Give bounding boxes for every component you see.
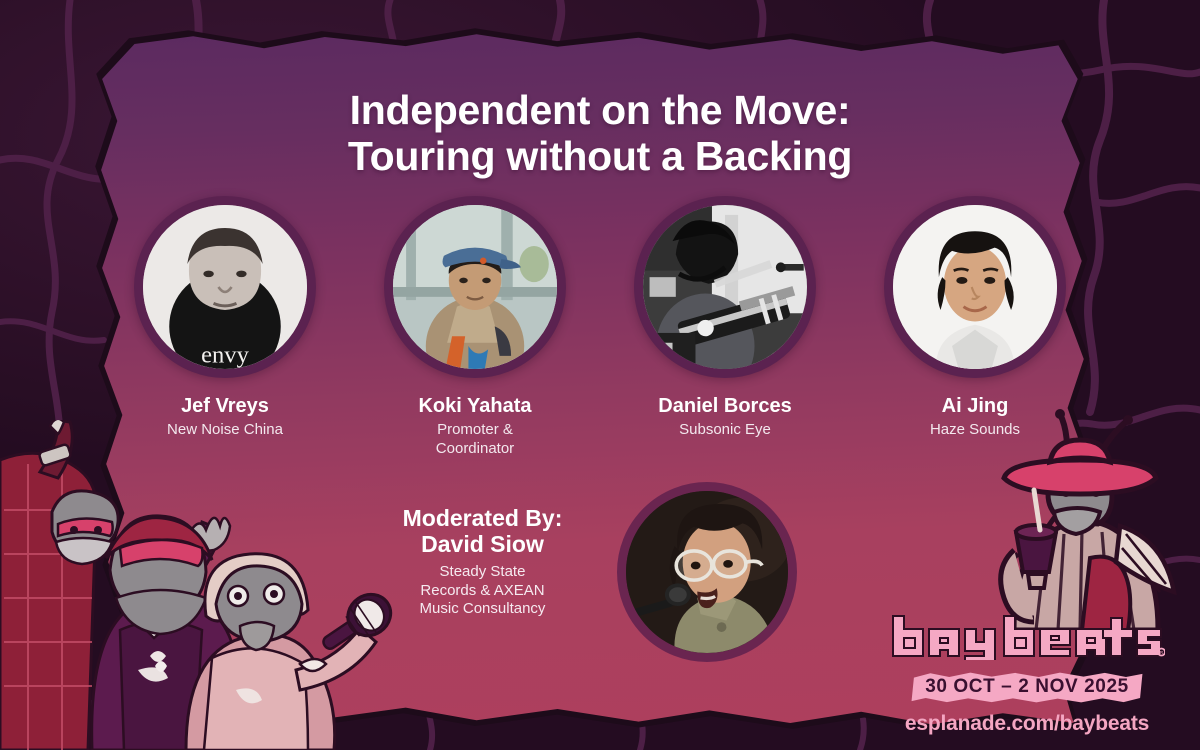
moderator-role: Steady State Records & AXEAN Music Consu… [370,563,595,619]
moderator-role-line-3: Music Consultancy [370,600,595,619]
moderator-avatar [617,482,797,662]
mascot-illustration [970,400,1200,630]
poster-content: Independent on the Move: Touring without… [0,0,1200,750]
moderator-role-line-2: Records & AXEAN [370,582,595,601]
avatar [384,196,566,378]
moderator-heading: Moderated By: David Siow [370,505,595,558]
crowd-illustration [0,420,400,750]
title-line-2: Touring without a Backing [0,134,1200,180]
speaker-name: Koki Yahata [370,395,580,417]
speaker-photo-koki-yahata [393,205,557,369]
speaker-card: Koki Yahata Promoter & Coordinator [370,196,580,459]
moderator-photo-david-siow [626,491,788,653]
speaker-photo-jef-vreys: envy [143,205,307,369]
moderator-label: Moderated By: [370,505,595,531]
svg-text:envy: envy [201,341,250,368]
poster: Independent on the Move: Touring without… [0,0,1200,750]
brand-lockup: R baybeats 30 OCT – 2 NOV 2025 esplanade… [882,614,1172,736]
baybeats-logo: R baybeats [890,614,1165,660]
festival-dates: 30 OCT – 2 NOV 2025 [909,672,1145,703]
speaker-role-line-2: Coordinator [370,440,580,459]
speaker-role-line-1: Promoter & [370,421,580,440]
crowd-figure-front [186,554,399,750]
website-url[interactable]: esplanade.com/baybeats [882,712,1172,736]
avatar [634,196,816,378]
moderator-role-line-1: Steady State [370,563,595,582]
title-line-1: Independent on the Move: [0,88,1200,134]
speaker-card: envy Jef Vreys New Noise China [120,196,330,440]
moderator-info: Moderated By: David Siow Steady State Re… [370,505,595,619]
page-title: Independent on the Move: Touring without… [0,88,1200,180]
speaker-card: Daniel Borces Subsonic Eye [620,196,830,440]
speaker-photo-ai-jing [893,205,1057,369]
avatar [884,196,1066,378]
speaker-role: Promoter & Coordinator [370,421,580,459]
speaker-name: Daniel Borces [620,395,830,417]
speaker-name: Jef Vreys [120,395,330,417]
moderator-name: David Siow [370,531,595,557]
speaker-role: Subsonic Eye [620,421,830,440]
speaker-photo-daniel-borces [643,205,807,369]
avatar: envy [134,196,316,378]
